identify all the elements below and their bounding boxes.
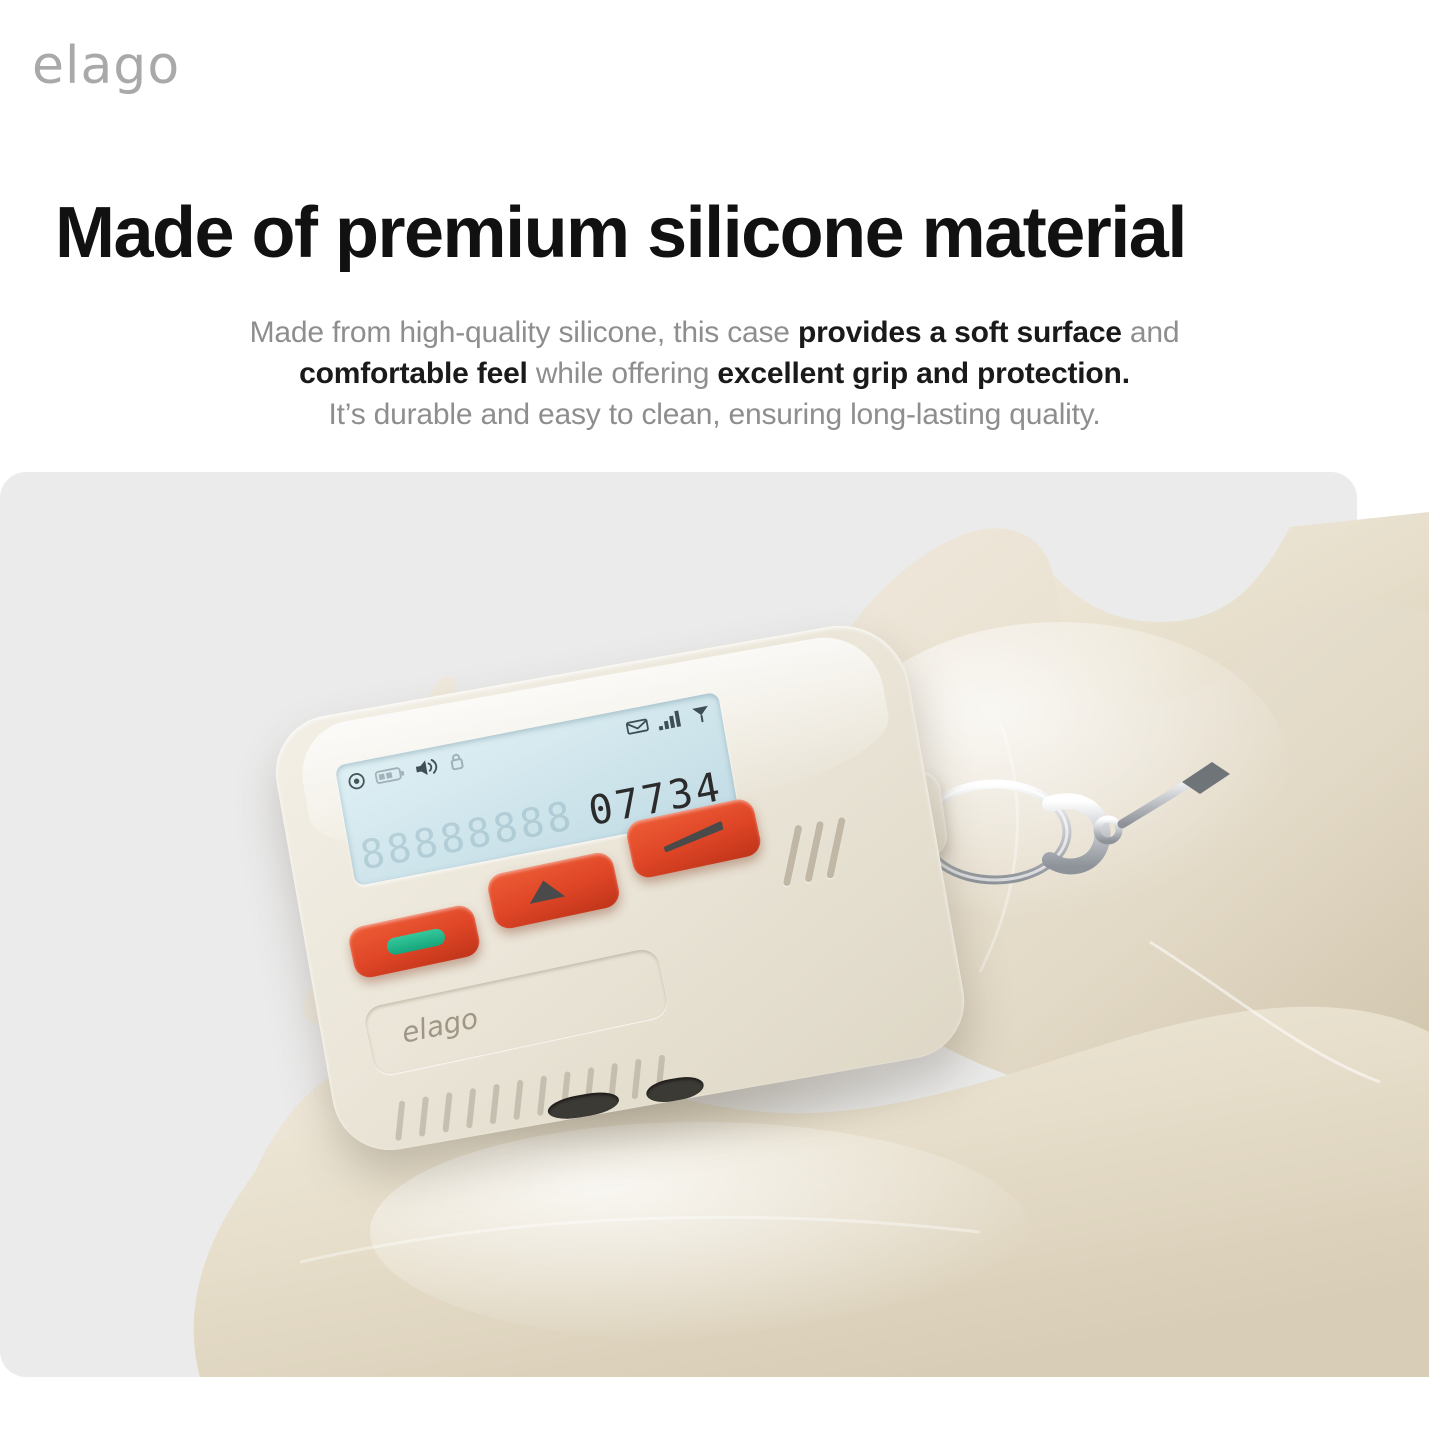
keyring-accessory bbox=[900, 752, 1240, 912]
alarm-clock-icon bbox=[346, 771, 367, 792]
speaker-icon bbox=[413, 755, 442, 780]
desc-emphasis-soft-surface: provides a soft surface bbox=[798, 316, 1122, 349]
description-line-2: comfortable feel while offering excellen… bbox=[0, 353, 1429, 394]
envelope-icon bbox=[625, 717, 649, 737]
signal-bars-icon bbox=[656, 709, 683, 731]
description-line-3: It’s durable and easy to clean, ensuring… bbox=[0, 394, 1429, 435]
battery-icon bbox=[374, 764, 406, 784]
desc-emphasis-grip-protection: excellent grip and protection bbox=[717, 357, 1121, 390]
brand-logo: elago bbox=[32, 36, 180, 96]
product-description: Made from high-quality silicone, this ca… bbox=[0, 312, 1429, 435]
desc-emphasis-comfortable-feel: comfortable feel bbox=[299, 357, 528, 390]
arrow-icon bbox=[661, 821, 726, 853]
green-pill-indicator bbox=[385, 927, 446, 957]
desc-text: while offering bbox=[528, 357, 718, 390]
desc-text: Made from high-quality silicone, this ca… bbox=[250, 316, 798, 349]
triangle-up-icon bbox=[526, 876, 565, 903]
description-line-1: Made from high-quality silicone, this ca… bbox=[0, 312, 1429, 353]
desc-period: . bbox=[1122, 357, 1130, 390]
clasp-latch bbox=[1182, 762, 1230, 794]
desc-text: and bbox=[1122, 316, 1180, 349]
page-title: Made of premium silicone material bbox=[55, 196, 1375, 272]
lock-icon bbox=[448, 752, 465, 772]
product-image-stage: 88888888 07734 elago bbox=[0, 472, 1429, 1377]
device-logo-text: elago bbox=[399, 1001, 481, 1049]
antenna-icon bbox=[690, 703, 713, 725]
